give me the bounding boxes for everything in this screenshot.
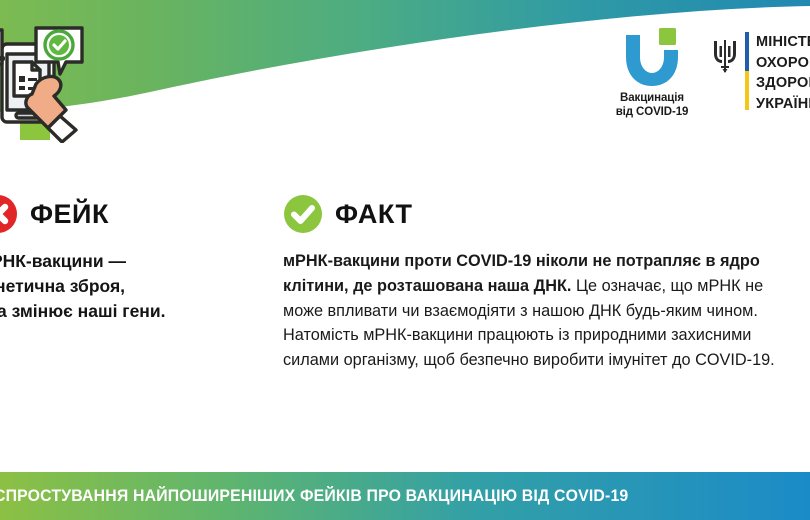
poster-canvas: Вакцинація від COVID-19 МІНІСТЕРСТВО О	[0, 0, 810, 520]
ministry-line-1: МІНІСТЕРСТВО	[756, 32, 810, 53]
ministry-of-health-logo: МІНІСТЕРСТВО ОХОРОНИ ЗДОРОВ'Я УКРАЇНИ	[712, 32, 810, 114]
fact-label: ФАКТ	[335, 199, 413, 230]
ukraine-trident-icon	[712, 32, 738, 74]
footer-banner: СПРОСТУВАННЯ НАЙПОШИРЕНІШИХ ФЕЙКІВ ПРО В…	[0, 472, 810, 520]
smartphone-feedback-illustration	[0, 18, 112, 143]
ministry-line-2: ОХОРОНИ	[756, 53, 810, 74]
fake-column: ФЕЙК мРНК-вакцини — генетична зброя, яка…	[0, 192, 246, 324]
vaccination-logo: Вакцинація від COVID-19	[602, 28, 702, 120]
x-circle-icon	[0, 194, 18, 234]
fake-badge-row: ФЕЙК	[0, 192, 246, 236]
check-circle-icon	[283, 194, 323, 234]
fact-body-text: мРНК-вакцини проти COVID-19 ніколи не по…	[283, 249, 783, 373]
ministry-line-3: ЗДОРОВ'Я	[756, 73, 810, 94]
vaccination-caption-line2: від COVID-19	[602, 105, 702, 119]
ministry-name-text: МІНІСТЕРСТВО ОХОРОНИ ЗДОРОВ'Я УКРАЇНИ	[756, 32, 810, 114]
ministry-line-4: УКРАЇНИ	[756, 94, 810, 115]
fact-badge-row: ФАКТ	[283, 192, 783, 236]
vaccination-caption-line1: Вакцинація	[602, 91, 702, 105]
fake-body-text: мРНК-вакцини — генетична зброя, яка змін…	[0, 249, 246, 324]
vaccination-logo-caption: Вакцинація від COVID-19	[602, 91, 702, 120]
fake-label: ФЕЙК	[30, 199, 109, 230]
fact-column: ФАКТ мРНК-вакцини проти COVID-19 ніколи …	[283, 192, 783, 373]
ukraine-flag-divider	[745, 32, 749, 110]
footer-banner-text: СПРОСТУВАННЯ НАЙПОШИРЕНІШИХ ФЕЙКІВ ПРО В…	[0, 486, 628, 506]
vaccination-v-logo-mark	[602, 28, 702, 88]
